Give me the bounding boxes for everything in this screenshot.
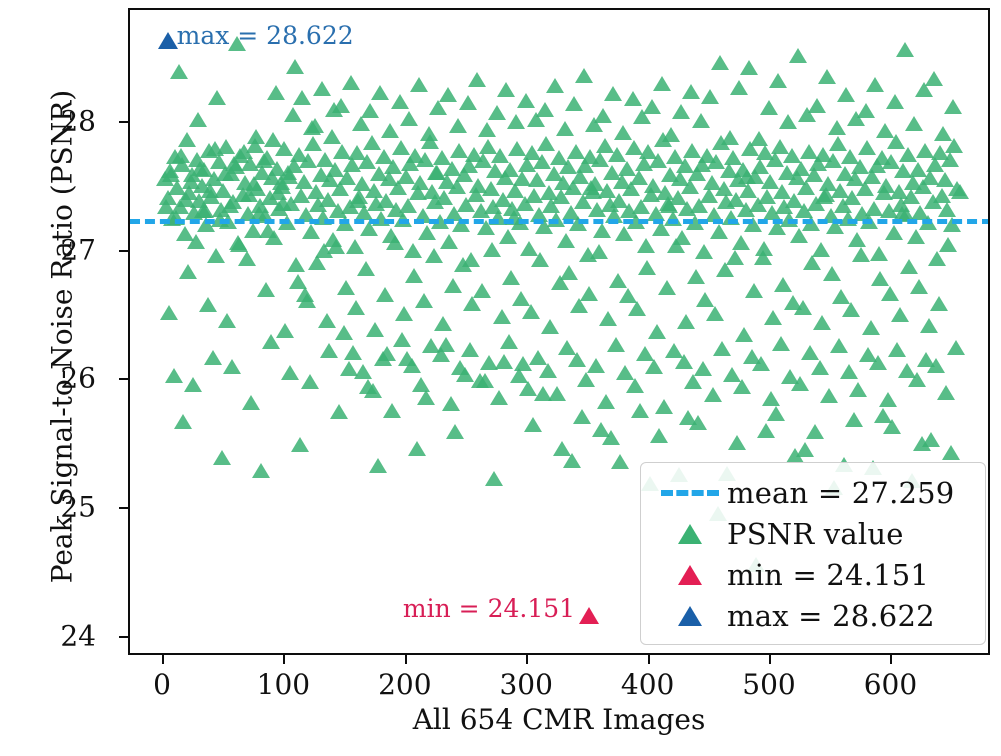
data-point <box>444 278 462 293</box>
data-point <box>218 313 236 328</box>
data-point <box>427 165 445 180</box>
data-point <box>789 48 807 63</box>
data-point <box>701 89 719 104</box>
data-point <box>420 126 438 141</box>
legend-item-min[interactable]: min = 24.151 <box>653 554 971 595</box>
data-point <box>440 234 458 249</box>
data-point <box>818 69 836 84</box>
data-point <box>349 193 367 208</box>
data-point <box>429 100 447 115</box>
data-point <box>191 161 209 176</box>
data-point <box>359 379 377 394</box>
data-point <box>590 244 608 259</box>
data-point <box>815 189 833 204</box>
data-point <box>614 125 632 140</box>
data-point <box>842 302 860 317</box>
data-point <box>281 365 299 380</box>
data-point <box>672 104 690 119</box>
data-point <box>599 311 617 326</box>
data-point <box>900 259 918 274</box>
data-point <box>684 374 702 389</box>
data-point <box>369 458 387 473</box>
triangle-marker-max-icon <box>653 606 727 626</box>
legend-label-max: max = 28.622 <box>727 599 935 633</box>
data-point <box>357 261 375 276</box>
legend-label-mean: mean = 27.259 <box>727 476 954 510</box>
data-point <box>808 98 826 113</box>
data-point <box>857 103 875 118</box>
data-point <box>577 372 595 387</box>
data-point <box>247 129 265 144</box>
data-point <box>507 114 525 129</box>
data-point <box>711 55 729 70</box>
x-tick-label: 500 <box>742 668 795 701</box>
data-point <box>223 359 241 374</box>
data-point <box>352 116 370 131</box>
data-point <box>201 183 219 198</box>
data-point <box>896 42 914 57</box>
data-point <box>779 114 797 129</box>
data-point <box>213 450 231 465</box>
data-point <box>594 108 612 123</box>
data-point <box>208 90 226 105</box>
data-point <box>830 338 848 353</box>
data-point <box>454 257 472 272</box>
data-point <box>170 64 188 79</box>
data-point <box>184 377 202 392</box>
data-point <box>340 361 358 376</box>
data-point <box>801 345 819 360</box>
data-point <box>257 282 275 297</box>
data-point <box>573 409 591 424</box>
data-point <box>493 309 511 324</box>
data-point <box>546 78 564 93</box>
data-point <box>713 341 731 356</box>
data-point <box>514 356 532 371</box>
data-point <box>675 354 693 369</box>
data-point <box>716 262 734 277</box>
data-point <box>483 242 501 257</box>
data-point <box>378 346 396 361</box>
data-point <box>774 277 792 292</box>
y-tick <box>119 378 128 380</box>
chart-legend[interactable]: mean = 27.259 PSNR value min = 24.151 ma… <box>640 462 986 645</box>
data-point <box>937 385 955 400</box>
x-tick-label: 600 <box>864 668 917 701</box>
data-point <box>172 148 190 163</box>
data-point <box>738 169 756 184</box>
data-point <box>871 271 889 286</box>
data-point <box>928 251 946 266</box>
data-point <box>337 280 355 295</box>
data-point <box>160 305 178 320</box>
data-point <box>631 403 649 418</box>
data-point <box>408 441 426 456</box>
data-point <box>870 246 888 261</box>
data-point <box>404 243 422 258</box>
x-tick-label: 100 <box>257 668 310 701</box>
data-point <box>230 237 248 252</box>
data-point <box>235 144 253 159</box>
data-point <box>609 273 627 288</box>
data-point <box>939 237 957 252</box>
data-point <box>582 180 600 195</box>
data-point <box>478 122 496 137</box>
x-axis-label: All 654 CMR Images <box>128 703 990 736</box>
x-tick <box>405 655 407 664</box>
data-point <box>925 71 943 86</box>
x-tick-label: 200 <box>378 668 431 701</box>
data-point <box>934 126 952 141</box>
data-point <box>178 132 196 147</box>
data-point <box>344 345 362 360</box>
data-point <box>274 196 292 211</box>
data-point <box>189 112 207 127</box>
legend-item-max[interactable]: max = 28.622 <box>653 595 971 636</box>
data-point <box>791 376 809 391</box>
data-point <box>291 437 309 452</box>
data-point <box>941 152 959 167</box>
max-annotation: max = 28.622 <box>177 21 354 50</box>
dashed-line-icon <box>653 490 727 496</box>
data-point <box>682 84 700 99</box>
data-point <box>568 352 586 367</box>
data-point <box>696 292 714 307</box>
data-point <box>537 136 555 151</box>
data-point <box>645 359 663 374</box>
data-point <box>221 198 239 213</box>
data-point <box>206 141 224 156</box>
data-point <box>304 136 322 151</box>
data-point <box>905 116 923 131</box>
data-point <box>655 399 673 414</box>
min-annotation: min = 24.151 <box>403 594 575 623</box>
data-point <box>463 296 481 311</box>
data-point <box>287 257 305 272</box>
data-point <box>252 463 270 478</box>
y-tick <box>119 250 128 252</box>
data-point <box>541 319 559 334</box>
data-point <box>721 130 739 145</box>
data-point <box>296 287 314 302</box>
data-point <box>849 382 867 397</box>
x-tick-label: 400 <box>621 668 674 701</box>
data-point <box>739 183 757 198</box>
data-point <box>944 99 962 114</box>
data-point <box>869 355 887 370</box>
x-tick-label: 0 <box>153 668 171 701</box>
data-point <box>848 232 866 247</box>
data-point <box>626 378 644 393</box>
data-point <box>593 223 611 238</box>
data-point <box>813 315 831 330</box>
max-marker <box>158 32 178 49</box>
data-point <box>608 147 626 162</box>
data-point <box>881 286 899 301</box>
data-point <box>920 318 938 333</box>
data-point <box>565 96 583 111</box>
data-point <box>177 192 195 207</box>
data-point <box>313 81 331 96</box>
data-point <box>803 255 821 270</box>
data-point <box>560 265 578 280</box>
data-point <box>856 181 874 196</box>
y-axis-label: Peak Signal-to-Noise Ratio (PSNR) <box>46 17 79 657</box>
data-point <box>886 94 904 109</box>
x-tick <box>890 655 892 664</box>
data-point <box>393 332 411 347</box>
data-point <box>187 234 205 249</box>
data-point <box>536 102 554 117</box>
data-point <box>376 287 394 302</box>
data-point <box>575 68 593 83</box>
data-point <box>476 373 494 388</box>
data-point <box>767 406 785 421</box>
data-point <box>434 316 452 331</box>
data-point <box>866 77 884 92</box>
data-point <box>879 392 897 407</box>
data-point <box>524 417 542 432</box>
data-point <box>259 223 277 238</box>
y-tick <box>119 121 128 123</box>
data-point <box>346 239 364 254</box>
data-point <box>449 118 467 133</box>
data-point <box>927 358 945 373</box>
data-point <box>728 435 746 450</box>
data-point <box>293 90 311 105</box>
data-point <box>624 91 642 106</box>
data-point <box>704 387 722 402</box>
data-point <box>679 410 697 425</box>
data-point <box>534 386 552 401</box>
data-point <box>371 85 389 100</box>
data-point <box>386 235 404 250</box>
data-point <box>643 99 661 114</box>
data-point <box>611 454 629 469</box>
data-point <box>272 175 290 190</box>
data-point <box>207 248 225 263</box>
data-point <box>750 131 768 146</box>
triangle-marker-min-icon <box>653 565 727 585</box>
data-point <box>677 314 695 329</box>
data-point <box>456 367 474 382</box>
data-point <box>862 320 880 335</box>
data-point <box>580 286 598 301</box>
data-point <box>658 280 676 295</box>
data-point <box>938 202 956 217</box>
data-point <box>459 95 477 110</box>
data-point <box>306 118 324 133</box>
data-point <box>740 60 758 75</box>
data-point <box>681 179 699 194</box>
data-point <box>267 85 285 100</box>
data-point <box>563 453 581 468</box>
data-point <box>264 132 282 147</box>
data-point <box>615 226 633 241</box>
data-point <box>315 243 333 258</box>
data-point <box>330 404 348 419</box>
data-point <box>706 306 724 321</box>
data-point <box>891 307 909 322</box>
data-point <box>361 103 379 118</box>
data-point <box>245 176 263 191</box>
data-point <box>637 238 655 253</box>
data-point <box>885 225 903 240</box>
data-point <box>710 224 728 239</box>
data-point <box>732 235 750 250</box>
data-point <box>794 300 812 315</box>
data-point <box>752 356 770 371</box>
data-point <box>695 244 713 259</box>
data-point <box>366 322 384 337</box>
data-point <box>318 313 336 328</box>
data-point <box>488 105 506 120</box>
data-point <box>876 123 894 138</box>
data-point <box>325 102 343 117</box>
data-point <box>660 198 678 213</box>
data-point <box>499 229 517 244</box>
data-point <box>302 224 320 239</box>
psnr-scatter-figure: 01002003004005006002425262728 All 654 CM… <box>0 0 1001 756</box>
data-point <box>286 59 304 74</box>
data-point <box>335 325 353 340</box>
data-point <box>381 123 399 138</box>
data-point <box>485 471 503 486</box>
data-point <box>667 238 685 253</box>
data-point <box>694 361 712 376</box>
data-point <box>473 283 491 298</box>
data-point <box>811 360 829 375</box>
data-point <box>320 343 338 358</box>
data-point <box>653 76 671 91</box>
data-point <box>757 423 775 438</box>
data-point <box>908 372 926 387</box>
data-point <box>238 251 256 266</box>
data-point <box>648 324 666 339</box>
data-point <box>199 297 217 312</box>
data-point <box>874 408 892 423</box>
x-tick-label: 300 <box>499 668 552 701</box>
data-point <box>347 300 365 315</box>
data-point <box>638 260 656 275</box>
data-point <box>165 368 183 383</box>
data-point <box>468 72 486 87</box>
data-point <box>772 336 790 351</box>
data-point <box>182 174 200 189</box>
data-point <box>446 424 464 439</box>
data-point <box>490 390 508 405</box>
data-point <box>405 268 423 283</box>
data-point <box>556 121 574 136</box>
data-point <box>495 354 513 369</box>
data-point <box>797 180 815 195</box>
data-point <box>687 269 705 284</box>
data-point <box>628 301 646 316</box>
data-point <box>649 153 667 168</box>
data-point <box>587 358 605 373</box>
data-point <box>745 283 763 298</box>
data-point <box>174 414 192 429</box>
data-point <box>301 374 319 389</box>
data-point <box>602 430 620 445</box>
data-point <box>796 442 814 457</box>
data-point <box>437 337 455 352</box>
data-point <box>733 379 751 394</box>
data-point <box>735 327 753 342</box>
data-point <box>410 77 428 92</box>
data-point <box>539 363 557 378</box>
data-point <box>730 80 748 95</box>
data-point <box>284 107 302 122</box>
mean-reference-line <box>130 219 988 224</box>
data-point <box>913 436 931 451</box>
y-tick <box>119 507 128 509</box>
data-point <box>299 153 317 168</box>
data-point <box>439 87 457 102</box>
data-point <box>179 264 197 279</box>
data-point <box>517 93 535 108</box>
data-point <box>604 86 622 101</box>
data-point <box>425 248 443 263</box>
data-point <box>899 147 917 162</box>
data-point <box>951 184 969 199</box>
min-marker <box>579 607 599 624</box>
data-point <box>762 391 780 406</box>
data-point <box>262 334 280 349</box>
data-point <box>852 247 870 262</box>
data-point <box>692 113 710 128</box>
data-point <box>391 94 409 109</box>
data-point <box>162 167 180 182</box>
data-point <box>828 120 846 135</box>
data-point <box>820 388 838 403</box>
data-point <box>597 394 615 409</box>
data-point <box>255 153 273 168</box>
triangle-marker-icon <box>653 524 727 544</box>
data-point <box>837 87 855 102</box>
x-tick <box>526 655 528 664</box>
data-point <box>823 266 841 281</box>
data-point <box>363 135 381 150</box>
data-point <box>930 296 948 311</box>
data-point <box>502 270 520 285</box>
data-point <box>531 252 549 267</box>
data-point <box>395 306 413 321</box>
data-point <box>570 298 588 313</box>
data-point <box>522 304 540 319</box>
data-point <box>415 293 433 308</box>
data-point <box>342 75 360 90</box>
y-tick <box>119 636 128 638</box>
legend-item-mean[interactable]: mean = 27.259 <box>653 472 971 513</box>
data-point <box>500 334 518 349</box>
legend-label-min: min = 24.151 <box>727 558 929 592</box>
data-point <box>726 250 744 265</box>
data-point <box>323 129 341 144</box>
legend-item-psnr-value[interactable]: PSNR value <box>653 513 971 554</box>
data-point <box>242 395 260 410</box>
data-point <box>400 111 418 126</box>
data-point <box>764 310 782 325</box>
data-point <box>194 203 212 218</box>
data-point <box>461 342 479 357</box>
x-tick <box>283 655 285 664</box>
data-point <box>442 396 460 411</box>
data-point <box>497 82 515 97</box>
data-point <box>662 127 680 142</box>
data-point <box>491 148 509 163</box>
data-point <box>417 390 435 405</box>
